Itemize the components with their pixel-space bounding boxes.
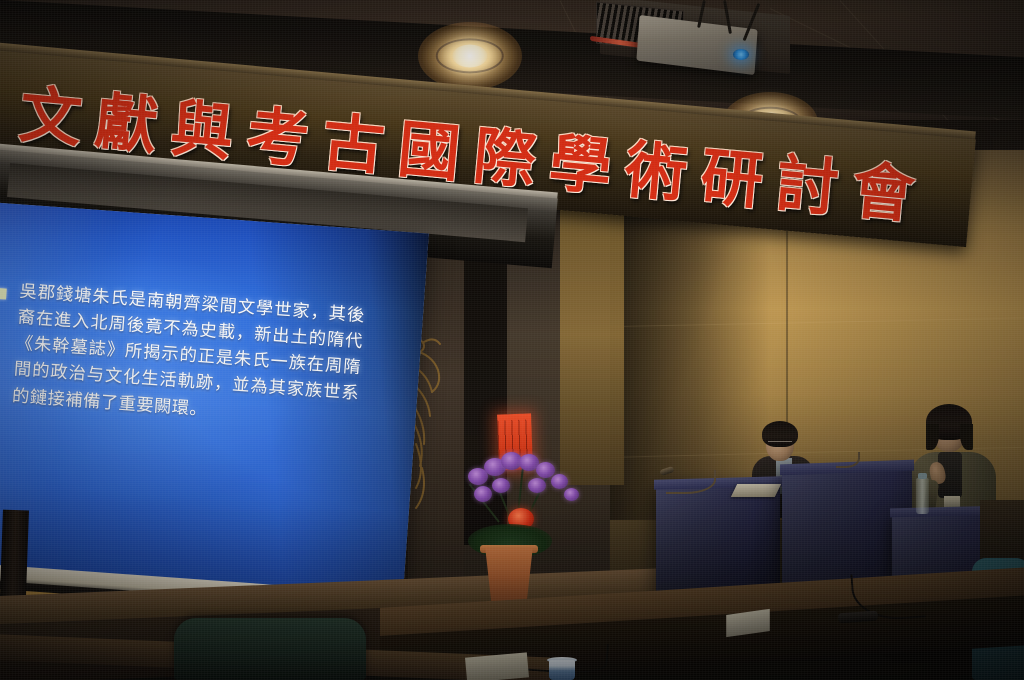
- conference-photo-scene: 、文獻與考古國際學術研討會 吳郡錢塘朱氏是南朝齊梁間文學世家，其後裔在進入北周後…: [0, 0, 1024, 680]
- water-bottle-cap: [918, 473, 927, 479]
- slide-paragraph: 吳郡錢塘朱氏是南朝齊梁間文學世家，其後裔在進入北周後竟不為史載，新出土的隋代《朱…: [11, 279, 365, 434]
- slide-bullet-marker: [0, 288, 7, 300]
- orchid-flower: [551, 474, 568, 489]
- projection-screen: 吳郡錢塘朱氏是南朝齊梁間文學世家，其後裔在進入北周後竟不為史載，新出土的隋代《朱…: [0, 200, 429, 601]
- lectern-papers: [731, 484, 781, 497]
- speaker-hair-side: [960, 424, 973, 450]
- paper-cup: [549, 660, 575, 680]
- wall-lit-corner: [560, 185, 624, 485]
- projector-indicator-led: [733, 49, 749, 60]
- desk-papers-front: [465, 652, 529, 680]
- orchid-flower: [474, 486, 492, 502]
- orchid-flower: [492, 478, 510, 493]
- moderator-glasses: [768, 441, 792, 446]
- water-bottle: [916, 478, 929, 514]
- slide-content: 吳郡錢塘朱氏是南朝齊梁間文學世家，其後裔在進入北周後竟不為史載，新出土的隋代《朱…: [0, 277, 366, 434]
- orchid-flower: [528, 478, 546, 493]
- audience-chair-green: [174, 618, 366, 680]
- orchid-flower: [564, 488, 579, 501]
